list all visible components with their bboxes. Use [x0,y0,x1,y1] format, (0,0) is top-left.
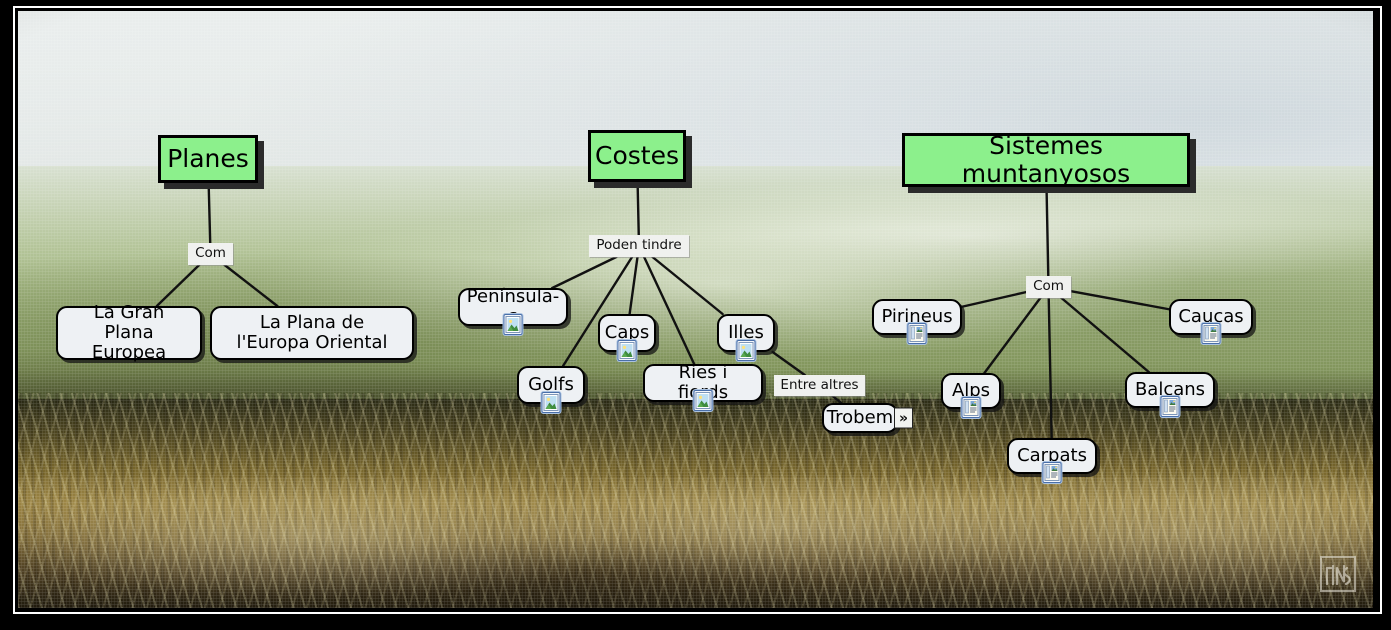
root-concept-sistemes[interactable]: Sistemes muntanyosos [902,133,1190,187]
concept-label: La Plana de l'Europa Oriental [221,313,403,353]
link-label-com-sistemes[interactable]: Com [1026,276,1071,298]
connector-entre-altres-to-trobem [833,396,842,403]
picture-icon[interactable] [542,392,561,413]
connector-poden-tindre-to-illes [653,257,723,314]
concept-label: La Gran Plana Europea [67,303,191,363]
concept-label: Trobem [827,408,893,428]
connector-costes-to-poden-tindre [638,182,639,235]
image-frame: PlanesCostesSistemes muntanyososLa Gran … [0,0,1391,630]
link-label-com-planes[interactable]: Com [188,243,233,265]
concept-alps[interactable]: Alps [941,373,1001,409]
concept-map: PlanesCostesSistemes muntanyososLa Gran … [18,11,1373,608]
note-resource-icon[interactable] [1202,323,1221,344]
ink-watermark-logo [1317,554,1359,594]
concept-pirineus[interactable]: Pirineus [872,299,962,335]
connector-poden-tindre-to-caps [630,257,638,314]
concept-caucas[interactable]: Caucas [1169,299,1253,335]
picture-icon[interactable] [694,390,713,411]
connector-com-planes-to-plana-orient [225,265,278,306]
concept-caps[interactable]: Caps [598,314,656,352]
connector-com-sistemes-to-alps [984,298,1040,373]
connector-com-planes-to-gran-plana [157,265,199,306]
concept-peninsules[interactable]: Península­s [458,288,568,326]
root-concept-planes[interactable]: Planes [158,135,258,183]
concept-trobem[interactable]: Trobem» [822,403,898,433]
connector-com-sistemes-to-pirineus [962,292,1026,307]
concept-ries-fiords[interactable]: Ries i fiords [643,364,763,402]
nested-map-chevron-icon[interactable]: » [894,408,913,429]
connector-sistemes-to-com-sistemes [1047,187,1049,276]
concept-illes[interactable]: Illes [717,314,775,352]
concept-carpats[interactable]: Carpats [1007,438,1097,474]
connector-poden-tindre-to-peninsules [552,257,616,288]
picture-icon[interactable] [618,340,637,361]
concept-gran-plana[interactable]: La Gran Plana Europea [56,306,202,360]
concept-map-canvas: PlanesCostesSistemes muntanyososLa Gran … [18,11,1373,608]
concept-balcans[interactable]: Balcans [1125,372,1215,408]
connector-com-sistemes-to-caucas [1071,291,1169,309]
connector-com-sistemes-to-balcans [1061,298,1148,372]
note-resource-icon[interactable] [1161,396,1180,417]
note-resource-icon[interactable] [1043,462,1062,483]
concept-plana-orient[interactable]: La Plana de l'Europa Oriental [210,306,414,360]
connector-planes-to-com-planes [209,183,211,243]
picture-icon[interactable] [737,340,756,361]
note-resource-icon[interactable] [908,323,927,344]
root-concept-costes[interactable]: Costes [588,130,686,182]
link-label-entre-altres[interactable]: Entre altres [774,375,865,396]
connector-illes-to-entre-altres [773,352,805,375]
picture-icon[interactable] [504,314,523,335]
note-resource-icon[interactable] [962,397,981,418]
link-label-poden-tindre[interactable]: Poden tindre [589,235,689,257]
concept-golfs[interactable]: Golfs [517,366,585,404]
connector-com-sistemes-to-carpats [1049,298,1052,438]
